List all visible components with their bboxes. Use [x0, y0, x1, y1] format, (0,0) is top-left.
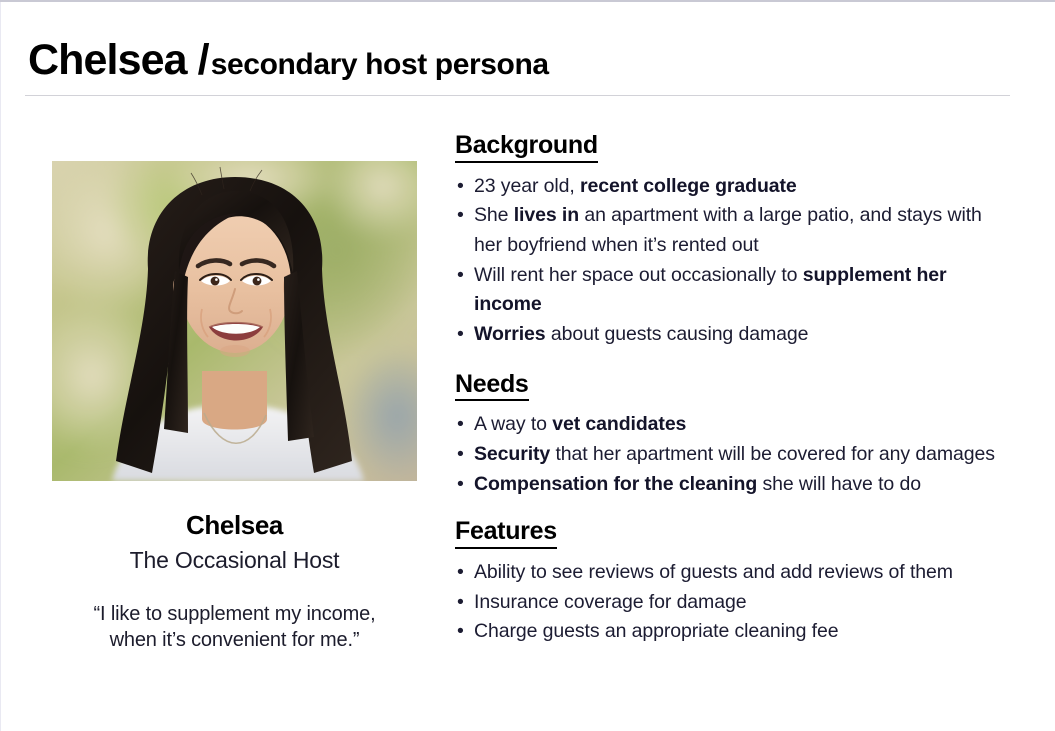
bullet-dot-icon: • — [457, 410, 464, 440]
persona-quote-line-2: when it’s convenient for me.” — [52, 628, 417, 654]
persona-photo — [52, 161, 417, 481]
bullet-item: •A way to vet candidates — [455, 410, 1007, 440]
bullet-item: •Charge guests an appropriate cleaning f… — [455, 617, 1007, 647]
bullet-text-emphasis: recent college graduate — [580, 175, 797, 197]
bullet-item: •Will rent her space out occasionally to… — [455, 261, 1007, 320]
page-title-sub: secondary host persona — [211, 48, 549, 81]
bullet-text-emphasis: lives in — [514, 204, 579, 226]
bullet-item: •Security that her apartment will be cov… — [455, 440, 1007, 470]
bullet-item: •Compensation for the cleaning she will … — [455, 470, 1007, 500]
section-features: Features •Ability to see reviews of gues… — [455, 517, 1007, 647]
bullet-list-features: •Ability to see reviews of guests and ad… — [455, 558, 1007, 647]
bullet-text-emphasis: Compensation for the cleaning — [474, 473, 757, 495]
bullet-dot-icon: • — [457, 172, 464, 202]
bullet-text: that her apartment will be covered for a… — [550, 443, 995, 465]
bullet-text: Ability to see reviews of guests and add… — [474, 561, 953, 583]
section-heading-needs: Needs — [455, 370, 529, 402]
bullet-text-emphasis: Worries — [474, 323, 546, 345]
bullet-text: about guests causing damage — [546, 323, 809, 345]
bullet-dot-icon: • — [457, 440, 464, 470]
portrait-photo-illustration — [52, 161, 417, 481]
bullet-text: A way to — [474, 413, 552, 435]
persona-quote: “I like to supplement my income, when it… — [52, 602, 417, 653]
section-heading-features: Features — [455, 517, 557, 549]
bullet-list-background: •23 year old, recent college graduate•Sh… — [455, 172, 1007, 350]
bullet-text: 23 year old, — [474, 175, 580, 197]
bullet-dot-icon: • — [457, 470, 464, 500]
page-title-main: Chelsea / — [28, 36, 209, 84]
bullet-text-emphasis: Security — [474, 443, 550, 465]
section-heading-background: Background — [455, 131, 598, 163]
bullet-item: •Worries about guests causing damage — [455, 320, 1007, 350]
header-divider — [25, 95, 1010, 96]
bullet-dot-icon: • — [457, 558, 464, 588]
persona-name: Chelsea — [52, 510, 417, 541]
section-needs: Needs •A way to vet candidates•Security … — [455, 370, 1007, 500]
bullet-dot-icon: • — [457, 588, 464, 618]
section-background: Background •23 year old, recent college … — [455, 131, 1007, 350]
bullet-text: She — [474, 204, 514, 226]
bullet-item: •Ability to see reviews of guests and ad… — [455, 558, 1007, 588]
bullet-item: •Insurance coverage for damage — [455, 588, 1007, 618]
persona-quote-line-1: “I like to supplement my income, — [52, 602, 417, 628]
bullet-dot-icon: • — [457, 320, 464, 350]
bullet-text: she will have to do — [757, 473, 921, 495]
bullet-dot-icon: • — [457, 201, 464, 231]
bullet-item: •23 year old, recent college graduate — [455, 172, 1007, 202]
bullet-text: Insurance coverage for damage — [474, 591, 746, 613]
persona-slide: Chelsea /secondary host persona — [0, 0, 1055, 731]
page-title: Chelsea /secondary host persona — [28, 36, 549, 85]
bullet-text: Will rent her space out occasionally to — [474, 264, 803, 286]
bullet-dot-icon: • — [457, 261, 464, 291]
bullet-text: Charge guests an appropriate cleaning fe… — [474, 620, 839, 642]
bullet-text-emphasis: vet candidates — [552, 413, 686, 435]
persona-profile-column: Chelsea The Occasional Host “I like to s… — [52, 161, 417, 653]
persona-details-column: Background •23 year old, recent college … — [455, 131, 1007, 649]
bullet-dot-icon: • — [457, 617, 464, 647]
bullet-item: •She lives in an apartment with a large … — [455, 201, 1007, 260]
persona-role: The Occasional Host — [52, 547, 417, 574]
bullet-list-needs: •A way to vet candidates•Security that h… — [455, 410, 1007, 499]
